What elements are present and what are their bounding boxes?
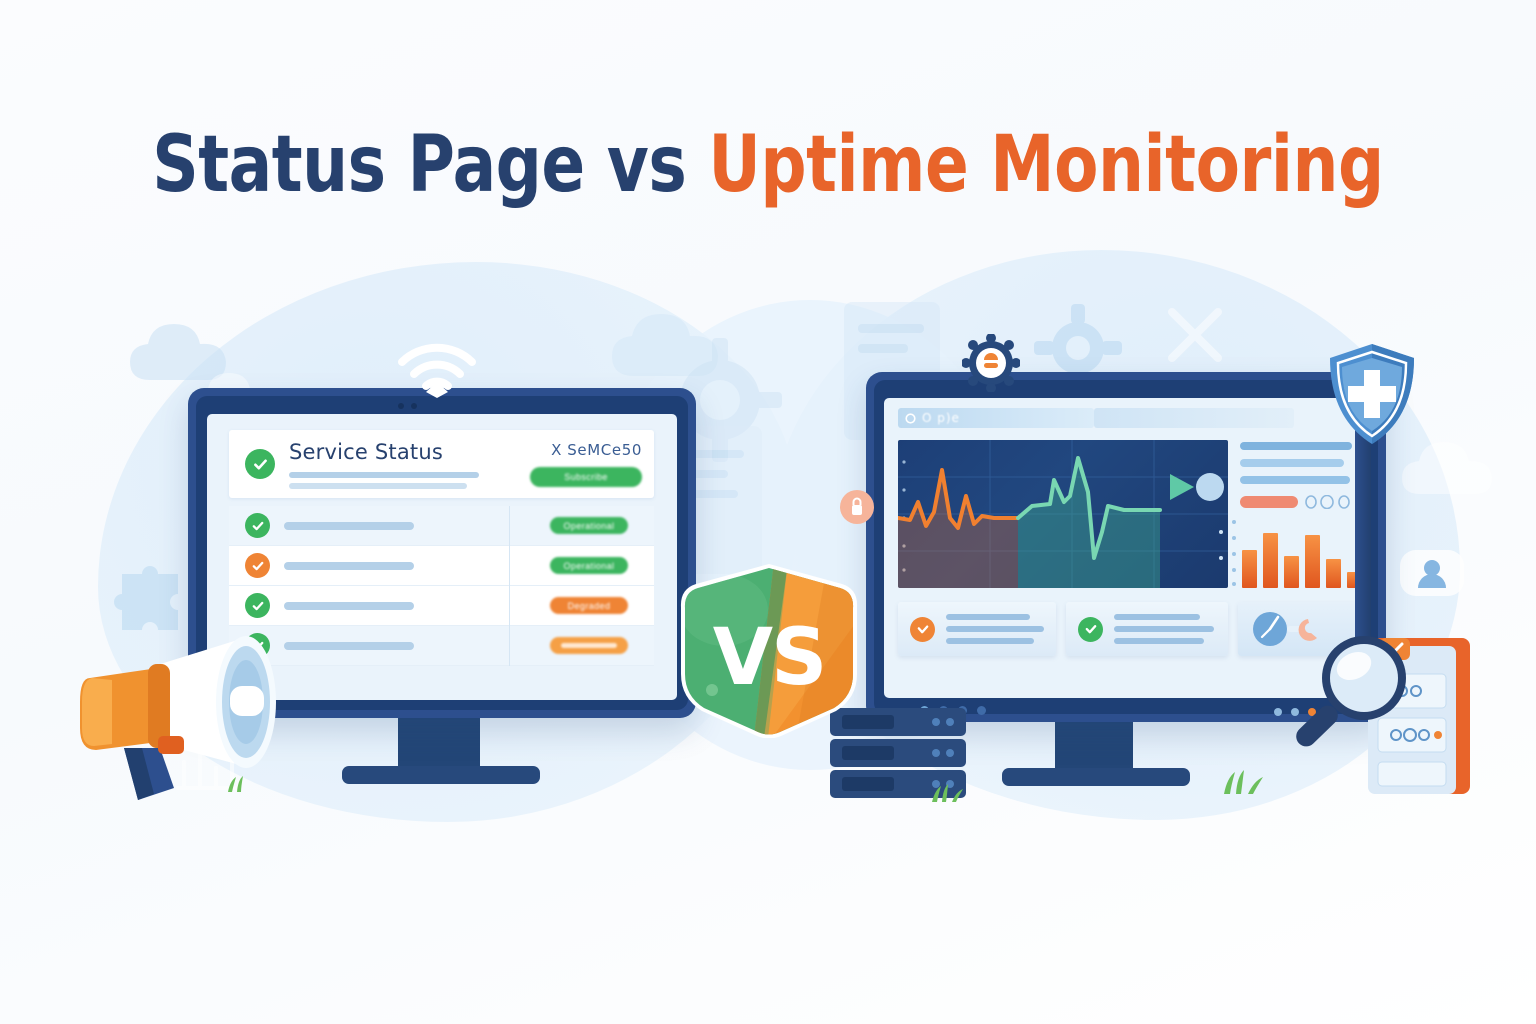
chart-svg: [898, 440, 1228, 588]
skeleton-line: [289, 472, 479, 478]
vs-badge: VS: [676, 562, 862, 743]
status-page-title: Service Status: [289, 440, 492, 464]
skeleton-line: [289, 483, 467, 489]
title-primary: Status Page vs: [152, 120, 708, 210]
grass-decoration: [1218, 766, 1272, 799]
address-bar[interactable]: O p)e: [898, 408, 1094, 428]
skeleton-line: [284, 602, 414, 610]
subscribe-button[interactable]: Subscribe: [530, 467, 642, 487]
plus-icon: [1160, 300, 1230, 370]
gear-icon: [962, 334, 1020, 397]
status-page-header: Service Status X SeMCe50 Subscribe: [229, 430, 654, 498]
list-item[interactable]: [1066, 602, 1228, 656]
skeleton-line: [1114, 614, 1200, 620]
skeleton-line: [1114, 638, 1204, 644]
bar-4: [1305, 535, 1320, 588]
uptime-sidebar: [1240, 442, 1358, 509]
check-circle-icon: [245, 449, 275, 479]
bar-chart-ticks: [1230, 516, 1238, 586]
list-item[interactable]: [898, 602, 1056, 656]
shield-cross-icon: [1326, 342, 1418, 451]
monitor-camera-dots: [398, 403, 417, 409]
skeleton-line: [946, 614, 1030, 620]
monitor-stand-base: [342, 766, 540, 784]
skeleton-line: [946, 626, 1044, 632]
monitor-stand-base: [1002, 768, 1190, 786]
bar-2: [1263, 533, 1278, 588]
table-row[interactable]: Operational: [229, 546, 654, 586]
skeleton-line: [946, 638, 1034, 644]
status-badge: Operational: [550, 517, 628, 534]
progress-badge: [550, 637, 628, 654]
skeleton-line: [284, 642, 414, 650]
skeleton-line: [284, 522, 414, 530]
check-circle-icon: [245, 513, 270, 538]
check-circle-icon: [245, 593, 270, 618]
check-circle-icon: [910, 617, 935, 642]
toggle-circles-icon: [1304, 495, 1352, 509]
bar-5: [1326, 559, 1341, 588]
check-circle-icon: [245, 553, 270, 578]
status-badge: Operational: [550, 557, 628, 574]
address-bar-tail: [1094, 408, 1294, 428]
bar-1: [1242, 550, 1257, 588]
table-row[interactable]: Operational: [229, 506, 654, 546]
page-title: Status Page vs Uptime Monitoring: [0, 126, 1536, 206]
status-badge: Degraded: [550, 597, 628, 614]
address-bar-text: O p)e: [922, 411, 960, 425]
grass-decoration: [928, 780, 974, 807]
bar-chart: [1240, 514, 1362, 588]
skeleton-line: [1114, 626, 1214, 632]
illustration-canvas: Status Page vs Uptime Monitoring: [0, 0, 1536, 1024]
skeleton-line: [1240, 476, 1350, 484]
lock-icon: [840, 490, 874, 529]
table-row[interactable]: Degraded: [229, 586, 654, 626]
title-accent: Uptime Monitoring: [708, 120, 1383, 210]
highlight-bar: [1240, 496, 1298, 508]
svg-text:VS: VS: [713, 613, 826, 703]
skeleton-line: [284, 562, 414, 570]
megaphone-icon: [62, 624, 297, 805]
bar-3: [1284, 556, 1299, 588]
uptime-chart: [898, 440, 1228, 588]
user-badge-icon: [1398, 546, 1466, 608]
wifi-icon: [396, 336, 478, 403]
magnifier-icon: [1286, 628, 1416, 763]
column-divider: [509, 506, 510, 666]
check-circle-icon: [1078, 617, 1103, 642]
brand-logo-text: X SeMCe50: [492, 441, 642, 459]
skeleton-line: [1240, 459, 1344, 467]
